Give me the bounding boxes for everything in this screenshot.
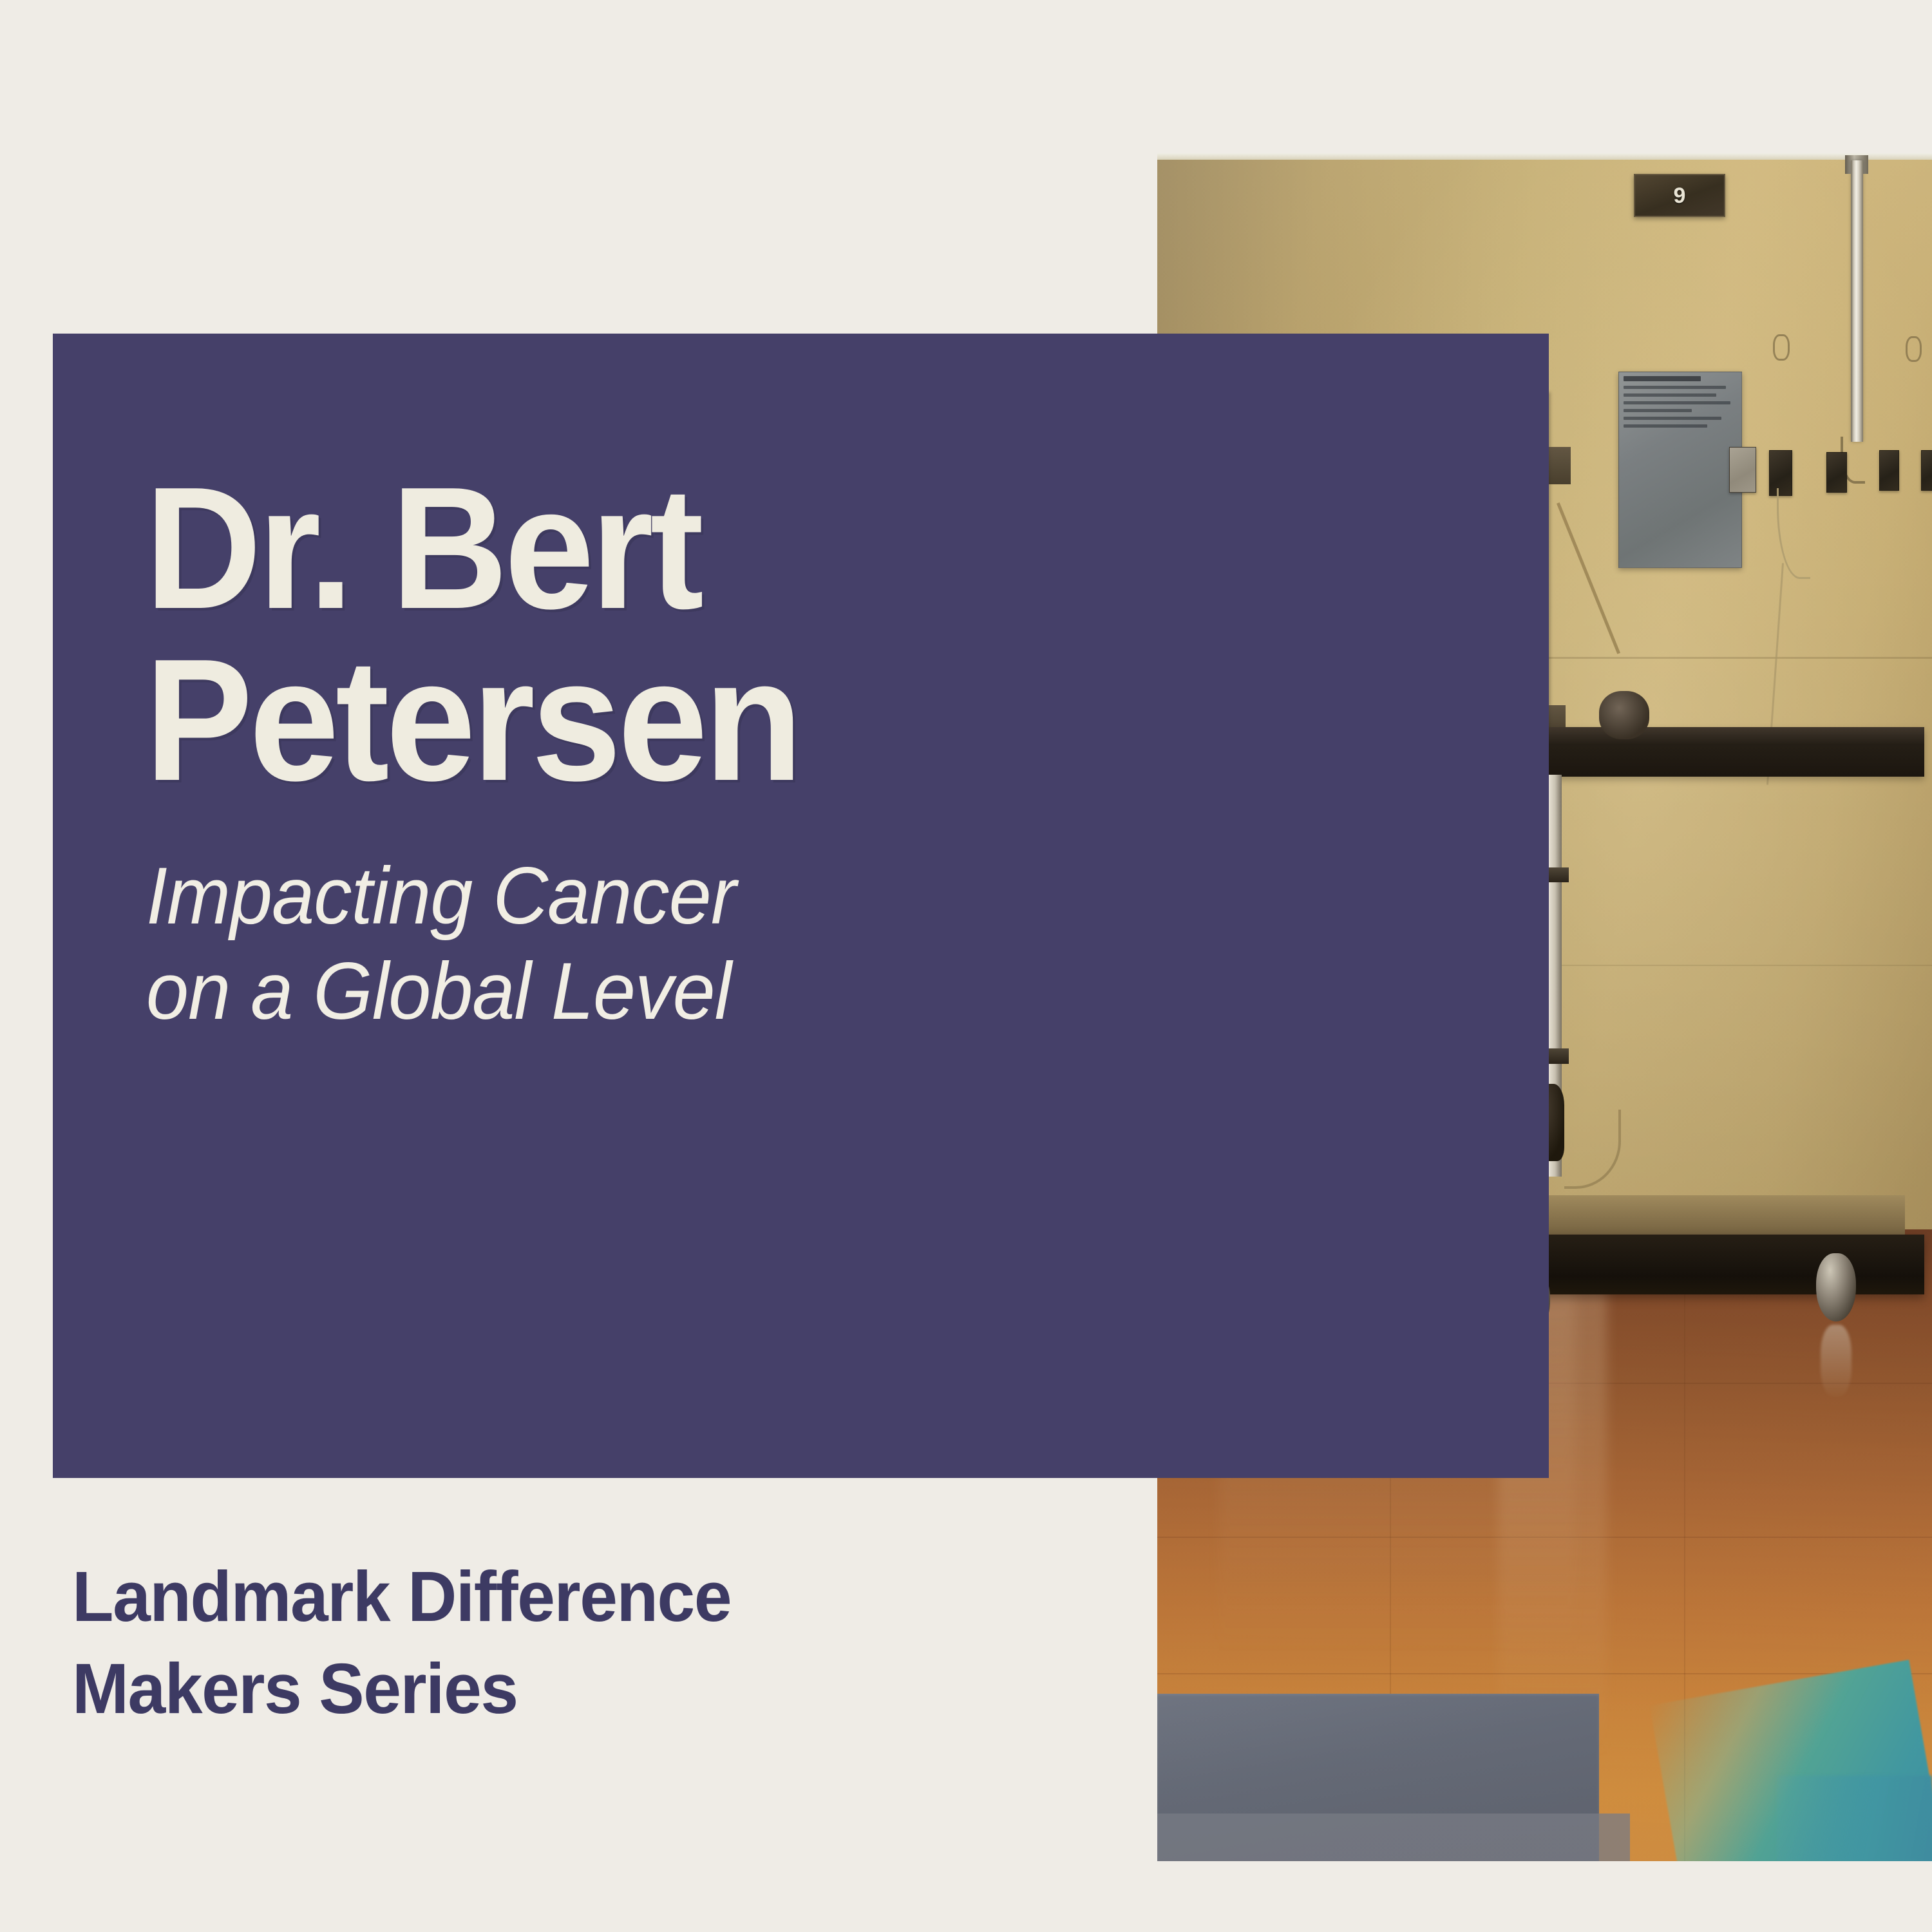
notice-line xyxy=(1624,424,1708,428)
room-number-label: 9 xyxy=(1674,185,1686,207)
series-label: Landmark Difference Makers Series xyxy=(72,1551,1061,1735)
floor-mat-edge xyxy=(1157,1814,1630,1861)
title-panel-content: Dr. Bert Petersen Impacting Cancer on a … xyxy=(145,334,1368,1478)
room-number-sign: 9 xyxy=(1634,174,1725,218)
wall-plate xyxy=(1729,447,1756,493)
exam-table-knob xyxy=(1599,691,1649,739)
notice-line xyxy=(1624,409,1692,412)
photo-ceiling-strip xyxy=(1157,153,1932,160)
wall-notice-plaque xyxy=(1618,372,1742,568)
notice-line xyxy=(1624,376,1701,381)
caster-reflection xyxy=(1821,1325,1851,1396)
caster-wheel xyxy=(1816,1253,1857,1321)
notice-line xyxy=(1624,401,1730,404)
vertical-chrome-rod xyxy=(1851,160,1863,442)
teal-fabric-edge xyxy=(1777,1776,1932,1861)
series-line-2: Makers Series xyxy=(72,1643,1061,1735)
notice-line xyxy=(1624,386,1726,389)
title-panel: Dr. Bert Petersen Impacting Cancer on a … xyxy=(53,334,1549,1478)
notice-line xyxy=(1624,417,1721,420)
electrical-outlet xyxy=(1879,450,1899,491)
subtitle-line-2: on a Global Level xyxy=(146,944,1186,1039)
title-line-1: Dr. Bert xyxy=(145,462,1223,634)
page-subtitle: Impacting Cancer on a Global Level xyxy=(146,849,1186,1039)
page-title: Dr. Bert Petersen xyxy=(145,462,1223,807)
title-line-2: Petersen xyxy=(145,634,1223,806)
wall-hook-icon xyxy=(1906,336,1922,362)
series-line-1: Landmark Difference xyxy=(72,1551,1061,1643)
equipment-base xyxy=(1482,1235,1924,1294)
subtitle-line-1: Impacting Cancer xyxy=(146,849,1186,944)
exam-table-arm xyxy=(1498,727,1924,777)
equipment-base-ledge xyxy=(1502,1195,1905,1240)
notice-line xyxy=(1624,393,1717,397)
electrical-outlet xyxy=(1826,452,1847,493)
slide-canvas: 9 xyxy=(0,0,1932,1932)
electrical-outlet xyxy=(1921,450,1932,491)
wall-hook-icon xyxy=(1773,334,1789,360)
